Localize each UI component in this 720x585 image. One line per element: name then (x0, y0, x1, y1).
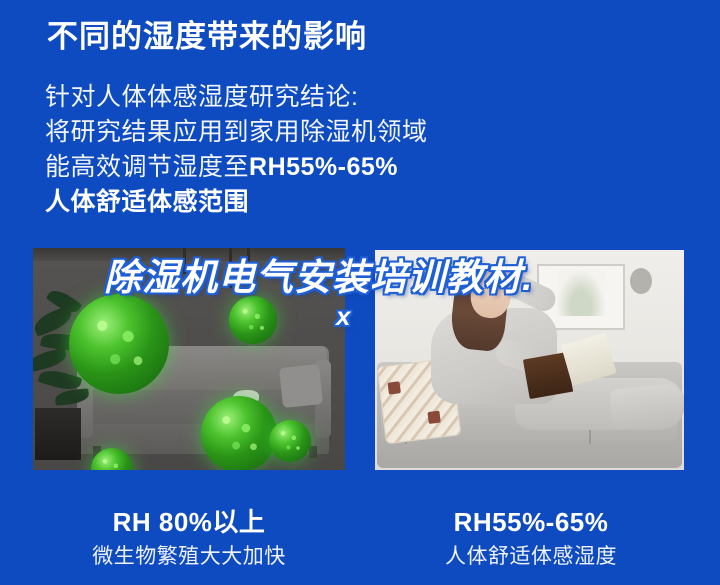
body-line-3-highlight: RH55%-65% (249, 153, 398, 181)
pendant-cord-1 (183, 248, 186, 274)
microbe-small-bottom-right (269, 420, 311, 462)
microbe-cluster-large (69, 294, 169, 394)
ceiling-strip (33, 248, 345, 261)
caption-right-title: RH55%-65% (381, 506, 681, 538)
microbe-small-top (229, 296, 277, 344)
wall-picture-art (557, 270, 605, 316)
microbe-medium-bottom (201, 396, 277, 470)
body-line-3-prefix: 能高效调节湿度至 (45, 153, 249, 181)
plant-pot (35, 408, 81, 460)
body-line-1: 针对人体体感湿度研究结论: (45, 80, 515, 115)
photo-panel-right (375, 250, 684, 470)
page-title: 不同的湿度带来的影响 (47, 18, 367, 56)
pendant-cord-3 (247, 248, 250, 266)
pillow-motif-1 (388, 381, 401, 394)
caption-left: RH 80%以上 微生物繁殖大大加快 (39, 506, 339, 571)
wall-speaker (630, 268, 652, 294)
sofa-leg-right (309, 446, 317, 458)
photo-panel-left (33, 248, 345, 470)
body-line-3: 能高效调节湿度至RH55%-65% (45, 150, 515, 185)
body-text-block: 针对人体体感湿度研究结论: 将研究结果应用到家用除湿机领域 能高效调节湿度至RH… (45, 80, 515, 220)
caption-left-title: RH 80%以上 (39, 506, 339, 538)
caption-left-subtitle: 微生物繁殖大大加快 (39, 543, 339, 571)
body-line-4: 人体舒适体感范围 (45, 185, 515, 220)
pendant-cord-2 (229, 248, 232, 288)
pillow-motif-2 (427, 411, 440, 424)
infographic-page: 不同的湿度带来的影响 针对人体体感湿度研究结论: 将研究结果应用到家用除湿机领域… (0, 0, 720, 585)
caption-right: RH55%-65% 人体舒适体感湿度 (381, 506, 681, 571)
person-shins (609, 382, 684, 430)
sofa-cushion (279, 364, 323, 408)
body-line-2: 将研究结果应用到家用除湿机领域 (45, 115, 515, 150)
caption-right-subtitle: 人体舒适体感湿度 (381, 543, 681, 571)
person-hand (499, 276, 519, 296)
